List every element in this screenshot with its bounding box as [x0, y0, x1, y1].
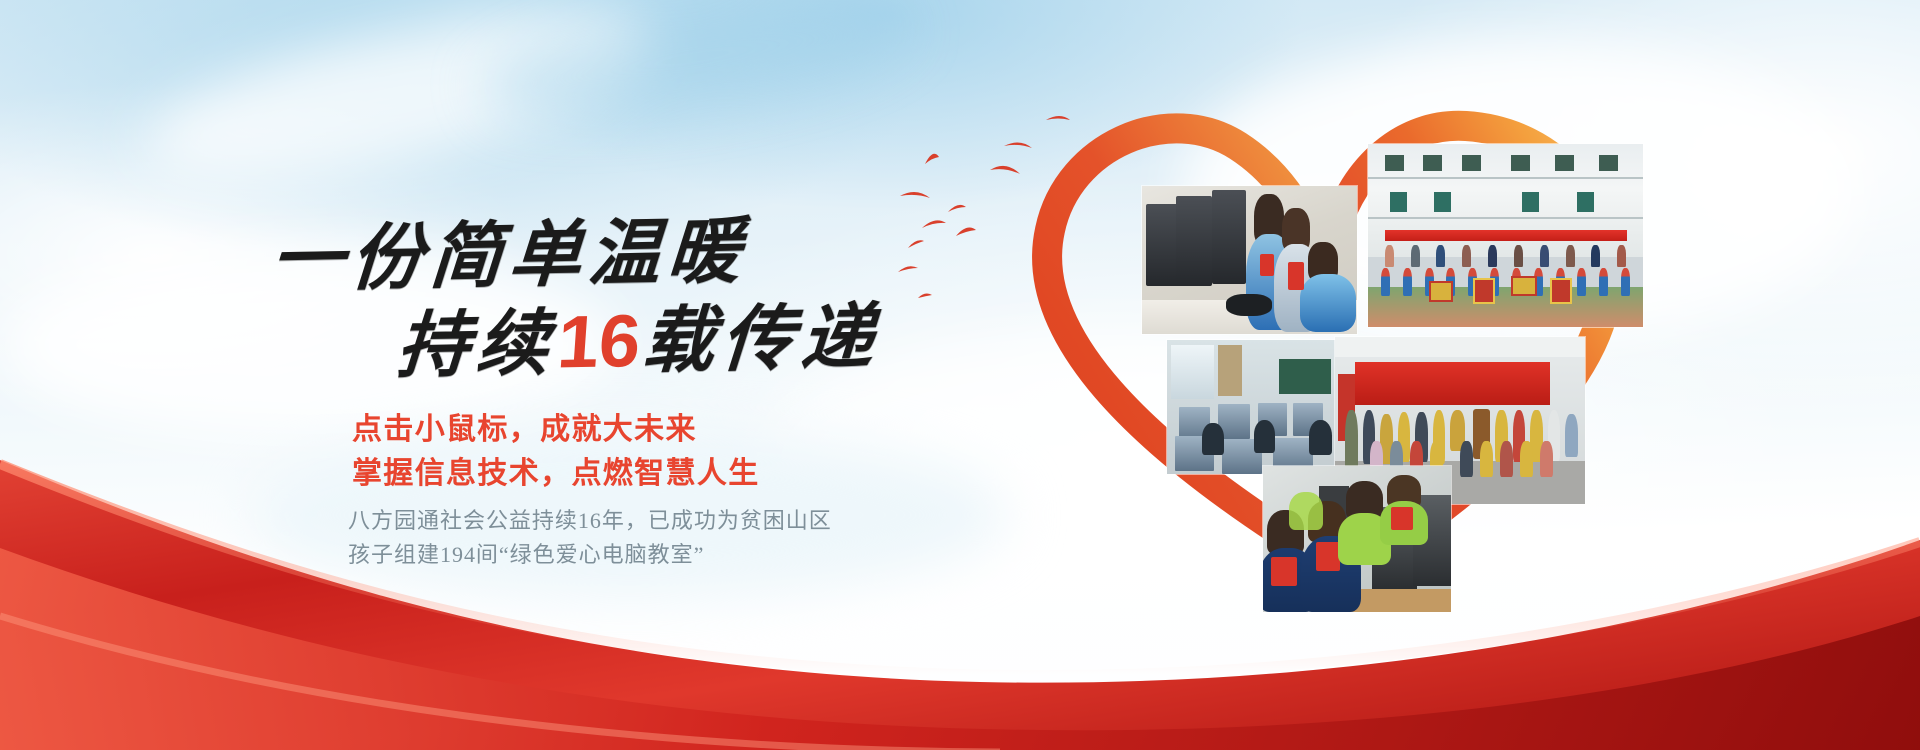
- headline-years-number: 16: [553, 299, 645, 384]
- banner-stage: 一份简单温暖 持续16载传递 点击小鼠标，成就大未来 掌握信息技术，点燃智慧人生…: [0, 0, 1920, 750]
- ceremony-banner-text: [1355, 362, 1550, 405]
- headline-line-2-prefix: 持续: [394, 304, 558, 387]
- photo-computer-lab-closeup: [1142, 186, 1357, 334]
- headline-line-2: 持续16载传递: [394, 277, 884, 391]
- headline-line-2-suffix: 载传递: [639, 297, 882, 382]
- photo-school-group-outdoor: [1368, 144, 1643, 327]
- red-silk-ribbon-wave: [0, 420, 1920, 750]
- donation-banner-text: [1385, 230, 1627, 241]
